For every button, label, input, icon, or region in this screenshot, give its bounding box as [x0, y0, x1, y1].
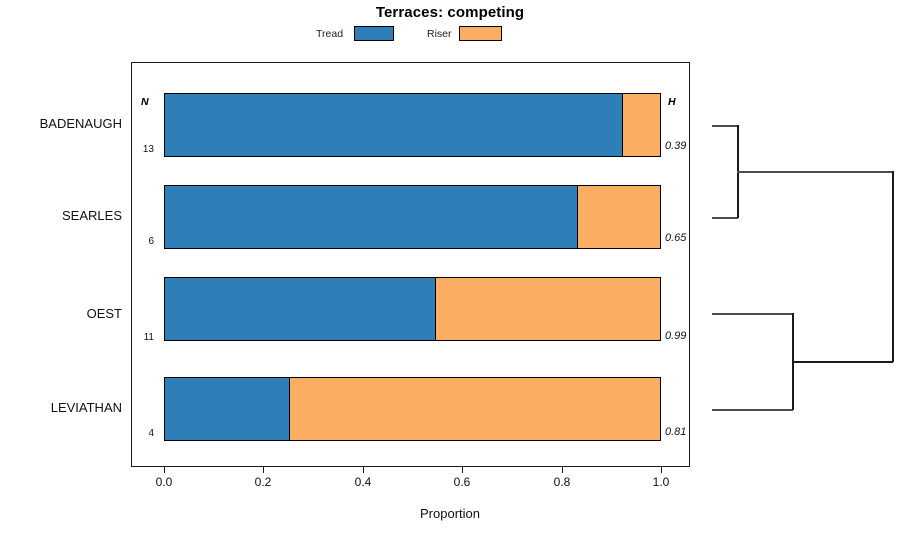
dendrogram-leaf-searles	[712, 217, 738, 219]
dendrogram-stem-cluster-lower	[792, 361, 893, 363]
dendrogram	[0, 0, 900, 540]
dendrogram-leaf-badenaugh	[712, 125, 738, 127]
dendrogram-root	[892, 171, 894, 362]
dendrogram-leaf-leviathan	[712, 409, 793, 411]
dendrogram-stem-cluster-upper	[737, 171, 893, 173]
dendrogram-leaf-oest	[712, 313, 793, 315]
